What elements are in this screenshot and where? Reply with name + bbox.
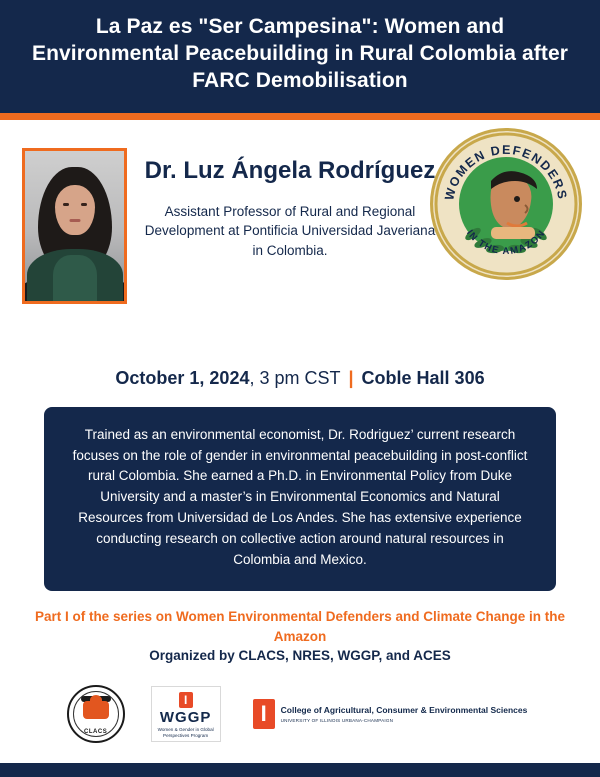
seal-artwork: WOMEN DEFENDERS IN THE AMAZON: [433, 131, 579, 277]
wggp-name: WGGP: [160, 710, 212, 725]
event-location: Coble Hall 306: [362, 368, 485, 388]
orange-divider: [0, 113, 600, 120]
speaker-name: Dr. Luz Ángela Rodríguez: [140, 156, 440, 186]
portrait-face: [55, 185, 95, 235]
clacs-figure: [83, 701, 109, 719]
aces-subtitle: UNIVERSITY OF ILLINOIS URBANA-CHAMPAIGN: [281, 718, 528, 723]
portrait-eye-left: [63, 203, 69, 206]
women-defenders-seal-icon: WOMEN DEFENDERS IN THE AMAZON: [430, 128, 582, 280]
clacs-label: CLACS: [69, 729, 123, 735]
portrait-eye-right: [81, 203, 87, 206]
page-title: La Paz es "Ser Campesina": Women and Env…: [28, 14, 572, 95]
event-time: , 3 pm CST: [249, 368, 340, 388]
aces-name: College of Agricultural, Consumer & Envi…: [281, 705, 528, 716]
wggp-logo-icon: WGGP Women & Gender in Global Perspectiv…: [151, 686, 221, 742]
poster: La Paz es "Ser Campesina": Women and Env…: [0, 0, 600, 777]
illinois-i-mark: [179, 692, 193, 708]
portrait-dress: [27, 249, 123, 304]
wggp-subtitle: Women & Gender in Global Perspectives Pr…: [152, 727, 220, 738]
clacs-logo-icon: CLACS: [67, 685, 125, 743]
speaker-info: Dr. Luz Ángela Rodríguez Assistant Profe…: [140, 156, 440, 261]
speaker-section: Dr. Luz Ángela Rodríguez Assistant Profe…: [0, 120, 600, 358]
dateline-separator: |: [349, 368, 354, 388]
sponsor-logos: CLACS WGGP Women & Gender in Global Pers…: [0, 685, 600, 743]
organizers-note: Organized by CLACS, NRES, WGGP, and ACES: [0, 648, 600, 663]
aces-logo-icon: I College of Agricultural, Consumer & En…: [247, 695, 534, 733]
poster-header: La Paz es "Ser Campesina": Women and Env…: [0, 0, 600, 113]
illinois-i-mark-aces: I: [253, 699, 275, 729]
speaker-bio: Trained as an environmental economist, D…: [44, 407, 556, 591]
series-note: Part I of the series on Women Environmen…: [28, 607, 572, 646]
event-dateline: October 1, 2024, 3 pm CST|Coble Hall 306: [0, 368, 600, 389]
bottom-navy-bar: [0, 763, 600, 777]
speaker-affiliation: Assistant Professor of Rural and Regiona…: [140, 202, 440, 261]
speaker-portrait: [22, 148, 127, 304]
event-date: October 1, 2024: [115, 368, 249, 388]
portrait-mouth: [69, 219, 80, 222]
